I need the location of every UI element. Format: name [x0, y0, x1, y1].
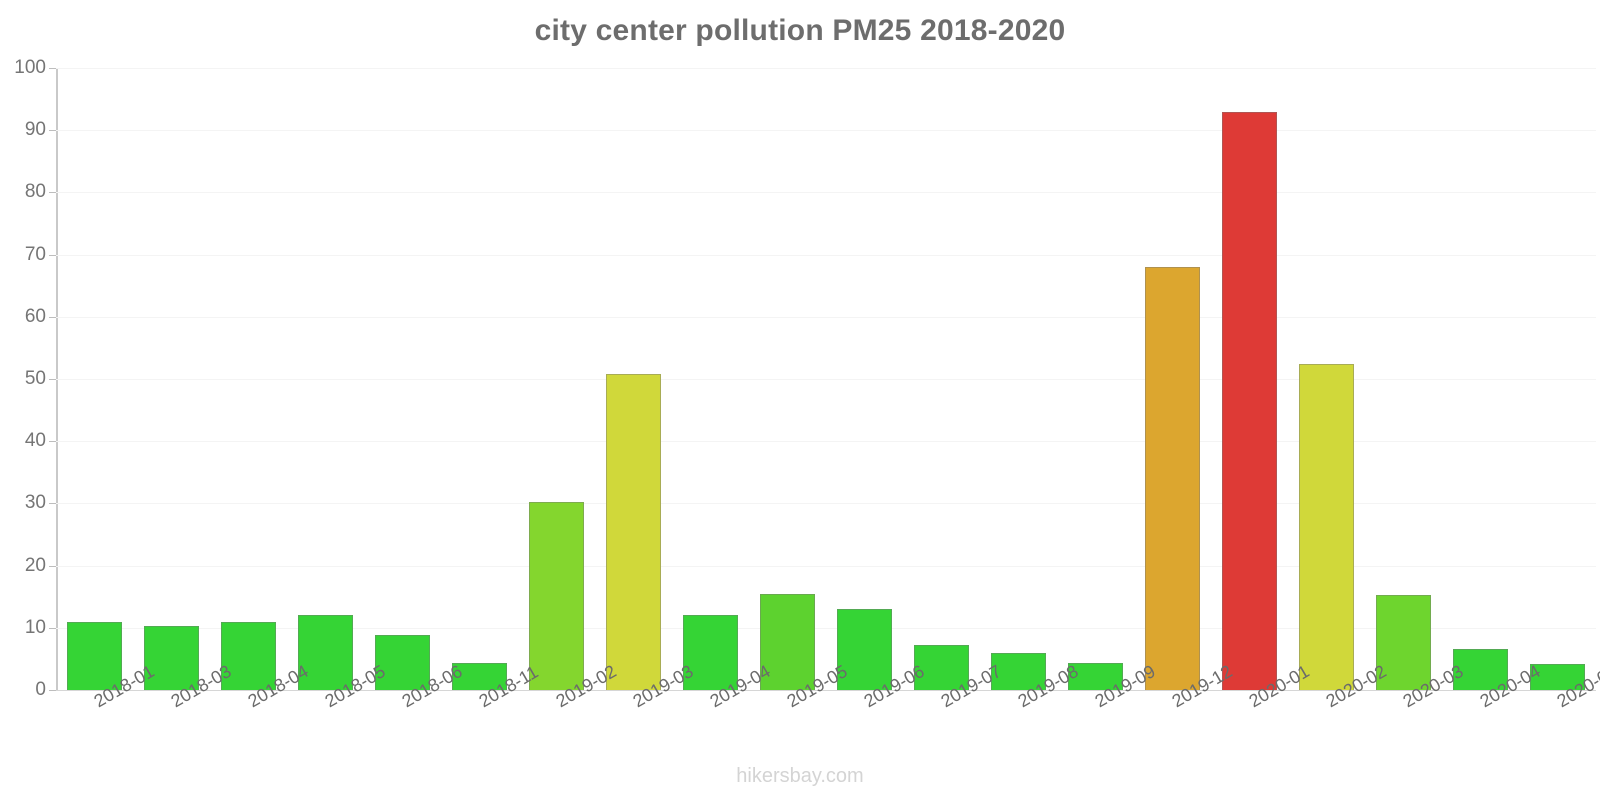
y-tick-label: 0 [0, 679, 46, 701]
y-tick-label: 30 [0, 492, 46, 514]
y-tick-label: 80 [0, 181, 46, 203]
y-tick-label: 50 [0, 368, 46, 390]
y-tick-mark [49, 379, 56, 380]
gridline [56, 503, 1596, 504]
y-tick-mark [49, 503, 56, 504]
y-tick-label: 70 [0, 244, 46, 266]
plot-area [56, 68, 1596, 690]
y-tick-mark [49, 317, 56, 318]
chart-container: city center pollution PM25 2018-2020 010… [0, 0, 1600, 800]
y-tick-mark [49, 690, 56, 691]
footer-credit: hikersbay.com [0, 765, 1600, 788]
y-tick-mark [49, 130, 56, 131]
bar-2019-03[interactable] [606, 374, 661, 690]
gridline [56, 566, 1596, 567]
gridline [56, 130, 1596, 131]
y-tick-mark [49, 68, 56, 69]
y-tick-label: 10 [0, 617, 46, 639]
y-tick-label: 100 [0, 57, 46, 79]
y-tick-label: 20 [0, 555, 46, 577]
y-tick-mark [49, 441, 56, 442]
y-tick-mark [49, 255, 56, 256]
gridline [56, 192, 1596, 193]
y-tick-mark [49, 566, 56, 567]
bar-2020-01[interactable] [1222, 112, 1277, 690]
bar-2019-02[interactable] [529, 502, 584, 690]
bar-2020-02[interactable] [1299, 364, 1354, 690]
gridline [56, 441, 1596, 442]
gridline [56, 379, 1596, 380]
y-tick-label: 90 [0, 119, 46, 141]
gridline [56, 317, 1596, 318]
gridline [56, 255, 1596, 256]
y-tick-mark [49, 628, 56, 629]
bar-2019-12[interactable] [1145, 267, 1200, 690]
y-tick-mark [49, 192, 56, 193]
y-tick-label: 60 [0, 306, 46, 328]
gridline [56, 68, 1596, 69]
gridline [56, 628, 1596, 629]
y-tick-label: 40 [0, 430, 46, 452]
